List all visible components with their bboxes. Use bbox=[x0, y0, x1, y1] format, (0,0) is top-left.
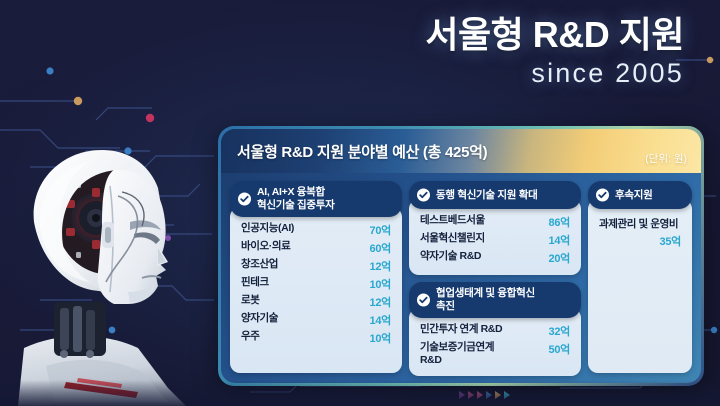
category-badge[interactable]: 후속지원 bbox=[588, 181, 692, 209]
budget-item-value: 12억 bbox=[370, 258, 391, 274]
category-card: 과제관리 및 운영비35억 bbox=[588, 199, 692, 373]
budget-row-list: 과제관리 및 운영비35억 bbox=[599, 213, 681, 250]
budget-item-label: 우주 bbox=[241, 330, 260, 343]
budget-row-list: 민간투자 연계 R&D32억기술보증기금연계 R&D50억 bbox=[420, 322, 570, 368]
budget-item-value: 60억 bbox=[370, 240, 391, 256]
panel-column-3: 후속지원과제관리 및 운영비35억 bbox=[588, 181, 692, 373]
category-badge[interactable]: AI, AI+X 융복합 혁신기술 집중투자 bbox=[230, 181, 402, 217]
budget-item-label: 창조산업 bbox=[241, 258, 278, 271]
budget-row: 서울혁신챌린지14억 bbox=[420, 231, 570, 249]
budget-item-value: 32억 bbox=[549, 323, 570, 339]
budget-item-label: 테스트베드서울 bbox=[420, 214, 485, 227]
budget-row: 양자기술14억 bbox=[241, 311, 391, 329]
category-badge[interactable]: 동행 혁신기술 지원 확대 bbox=[409, 181, 581, 209]
infographic-slide: 서울형 R&D 지원 since 2005 bbox=[0, 0, 720, 406]
budget-item-value: 50억 bbox=[549, 341, 570, 357]
budget-row: 바이오·의료60억 bbox=[241, 239, 391, 257]
budget-row: 민간투자 연계 R&D32억 bbox=[420, 322, 570, 340]
budget-item-value: 10억 bbox=[370, 330, 391, 346]
budget-row: 기술보증기금연계 R&D50억 bbox=[420, 340, 570, 368]
budget-row: 과제관리 및 운영비35억 bbox=[599, 213, 681, 250]
budget-row: 로봇12억 bbox=[241, 293, 391, 311]
check-circle-icon bbox=[238, 192, 251, 205]
budget-row: 테스트베드서울86억 bbox=[420, 213, 570, 231]
panel-title: 서울형 R&D 지원 분야별 예산 (총 425억) bbox=[237, 141, 487, 162]
panel-column-1: AI, AI+X 융복합 혁신기술 집중투자인공지능(AI)70억바이오·의료6… bbox=[230, 181, 402, 373]
budget-item-value: 14억 bbox=[549, 232, 570, 248]
check-circle-icon bbox=[417, 189, 430, 202]
budget-item-label: 과제관리 및 운영비 bbox=[599, 218, 678, 230]
budget-item-value: 20억 bbox=[549, 250, 570, 266]
budget-item-value: 70억 bbox=[370, 222, 391, 238]
check-circle-icon bbox=[417, 293, 430, 306]
budget-item-label: 서울혁신챌린지 bbox=[420, 232, 485, 245]
budget-item-label: 기술보증기금연계 R&D bbox=[420, 341, 494, 367]
panel-body: AI, AI+X 융복합 혁신기술 집중투자인공지능(AI)70억바이오·의료6… bbox=[221, 173, 701, 383]
budget-item-label: 약자기술 R&D bbox=[420, 250, 481, 263]
panel-column-2: 동행 혁신기술 지원 확대테스트베드서울86억서울혁신챌린지14억약자기술 R&… bbox=[409, 181, 581, 373]
budget-row-list: 인공지능(AI)70억바이오·의료60억창조산업12억핀테크10억로봇12억양자… bbox=[241, 221, 391, 347]
budget-item-label: 핀테크 bbox=[241, 276, 269, 289]
category-card: 민간투자 연계 R&D32억기술보증기금연계 R&D50억 bbox=[409, 308, 581, 376]
category-badge-label: 협업생태계 및 융합혁신 촉진 bbox=[436, 287, 535, 313]
category-badge-label: AI, AI+X 융복합 혁신기술 집중투자 bbox=[257, 186, 335, 212]
budget-item-label: 민간투자 연계 R&D bbox=[420, 323, 502, 336]
category-badge-label: 동행 혁신기술 지원 확대 bbox=[436, 189, 537, 202]
budget-item-label: 바이오·의료 bbox=[241, 240, 290, 253]
page-subtitle: since 2005 bbox=[425, 58, 684, 89]
budget-row: 핀테크10억 bbox=[241, 275, 391, 293]
panel-header: 서울형 R&D 지원 분야별 예산 (총 425억) (단위: 원) bbox=[221, 129, 701, 173]
hero-title-block: 서울형 R&D 지원 since 2005 bbox=[425, 16, 684, 89]
category-group: 후속지원과제관리 및 운영비35억 bbox=[588, 181, 692, 373]
budget-item-value: 86억 bbox=[549, 214, 570, 230]
budget-row: 인공지능(AI)70억 bbox=[241, 221, 391, 239]
category-group: 동행 혁신기술 지원 확대테스트베드서울86억서울혁신챌린지14억약자기술 R&… bbox=[409, 181, 581, 275]
category-badge[interactable]: 협업생태계 및 융합혁신 촉진 bbox=[409, 282, 581, 318]
budget-row: 창조산업12억 bbox=[241, 257, 391, 275]
category-card: 인공지능(AI)70억바이오·의료60억창조산업12억핀테크10억로봇12억양자… bbox=[230, 207, 402, 373]
budget-row: 약자기술 R&D20억 bbox=[420, 249, 570, 267]
budget-row: 우주10억 bbox=[241, 329, 391, 347]
category-card: 테스트베드서울86억서울혁신챌린지14억약자기술 R&D20억 bbox=[409, 199, 581, 275]
budget-item-label: 인공지능(AI) bbox=[241, 222, 294, 235]
category-group: AI, AI+X 융복합 혁신기술 집중투자인공지능(AI)70억바이오·의료6… bbox=[230, 181, 402, 373]
category-badge-label: 후속지원 bbox=[615, 189, 652, 202]
page-title: 서울형 R&D 지원 bbox=[425, 16, 684, 54]
budget-item-value: 35억 bbox=[599, 233, 681, 249]
category-group: 협업생태계 및 융합혁신 촉진민간투자 연계 R&D32억기술보증기금연계 R&… bbox=[409, 282, 581, 376]
budget-item-label: 로봇 bbox=[241, 294, 260, 307]
budget-item-value: 10억 bbox=[370, 276, 391, 292]
bottom-glow bbox=[0, 380, 720, 406]
budget-item-value: 12억 bbox=[370, 294, 391, 310]
check-circle-icon bbox=[596, 189, 609, 202]
budget-item-value: 14억 bbox=[370, 312, 391, 328]
budget-item-label: 양자기술 bbox=[241, 312, 278, 325]
unit-note: (단위: 원) bbox=[645, 151, 687, 166]
budget-panel: 서울형 R&D 지원 분야별 예산 (총 425억) (단위: 원) AI, A… bbox=[218, 126, 704, 386]
budget-row-list: 테스트베드서울86억서울혁신챌린지14억약자기술 R&D20억 bbox=[420, 213, 570, 267]
